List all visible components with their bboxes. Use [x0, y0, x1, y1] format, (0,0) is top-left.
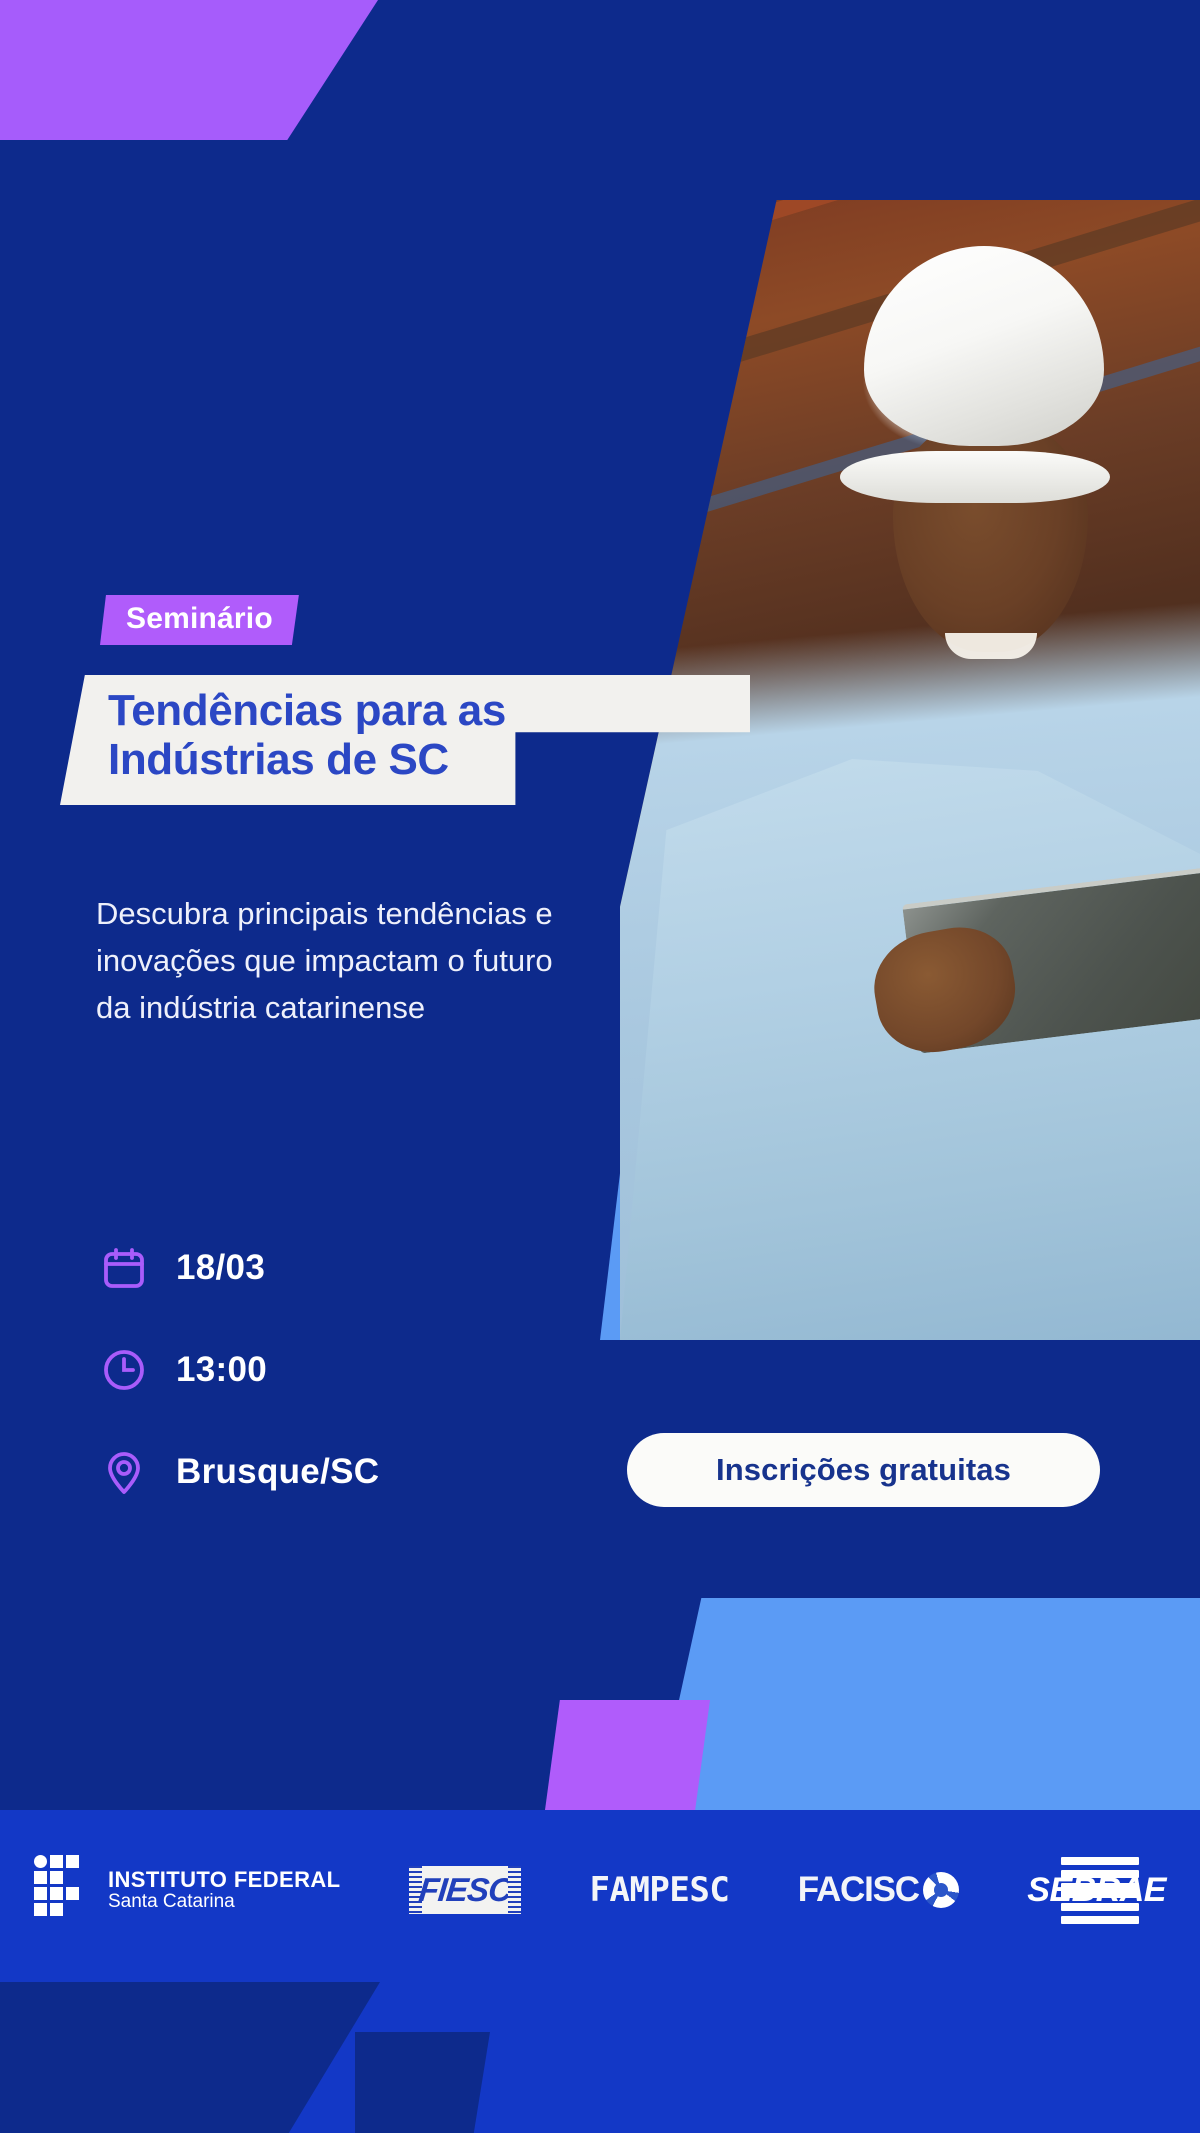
registration-button[interactable]: Inscrições gratuitas [627, 1433, 1100, 1507]
registration-button-label: Inscrições gratuitas [716, 1452, 1011, 1488]
worker-photo-image [620, 200, 1200, 1340]
event-details: 18/03 13:00 Brusque/SC [100, 1230, 379, 1536]
location-pin-icon [100, 1448, 156, 1496]
calendar-icon [100, 1244, 156, 1292]
title-line-1: Tendências para as [108, 686, 728, 735]
bottom-light-blue-shape [655, 1598, 1200, 1810]
ifsc-label-line1: INSTITUTO FEDERAL [108, 1867, 341, 1892]
clock-icon [100, 1346, 156, 1394]
top-purple-shape [0, 0, 378, 140]
logo-facisc: FACISC [798, 1870, 959, 1910]
detail-value-date: 18/03 [176, 1248, 265, 1288]
title-line-2: Indústrias de SC [108, 735, 728, 784]
ifsc-grid-icon [34, 1855, 92, 1925]
fampesc-label: FAMPESC [590, 1870, 730, 1910]
sponsor-logo-bar: INSTITUTO FEDERAL Santa Catarina FIESC F… [0, 1810, 1200, 1970]
logo-fiesc: FIESC [409, 1866, 521, 1914]
detail-value-location: Brusque/SC [176, 1452, 379, 1492]
ifsc-label-line2: Santa Catarina [108, 1891, 235, 1912]
description-text: Descubra principais tendências e inovaçõ… [96, 890, 576, 1031]
detail-value-time: 13:00 [176, 1350, 267, 1390]
bottom-step-shape-b [355, 2032, 490, 2133]
facisc-label: FACISC [798, 1870, 919, 1910]
poster: Seminário Tendências para as Indústrias … [0, 0, 1200, 2133]
logo-fampesc: FAMPESC [590, 1870, 730, 1910]
bottom-decorative-area [0, 1970, 1200, 2133]
bottom-step-shape-a [0, 1982, 380, 2133]
detail-row-time: 13:00 [100, 1332, 379, 1408]
title-banner: Tendências para as Indústrias de SC [60, 675, 750, 805]
logo-sebrae: SEBRAE [1027, 1857, 1166, 1924]
detail-row-date: 18/03 [100, 1230, 379, 1306]
seminar-badge: Seminário [100, 595, 299, 645]
logo-instituto-federal: INSTITUTO FEDERAL Santa Catarina [34, 1855, 341, 1925]
facisc-swirl-icon [923, 1872, 959, 1908]
detail-row-location: Brusque/SC [100, 1434, 379, 1510]
fiesc-label: FIESC [417, 1871, 513, 1909]
seminar-badge-label: Seminário [126, 604, 273, 634]
page-title: Tendências para as Indústrias de SC [108, 686, 728, 785]
bottom-purple-shape [545, 1700, 710, 1810]
sebrae-label: SEBRAE [1027, 1871, 1166, 1910]
hero-photo [620, 200, 1200, 1340]
